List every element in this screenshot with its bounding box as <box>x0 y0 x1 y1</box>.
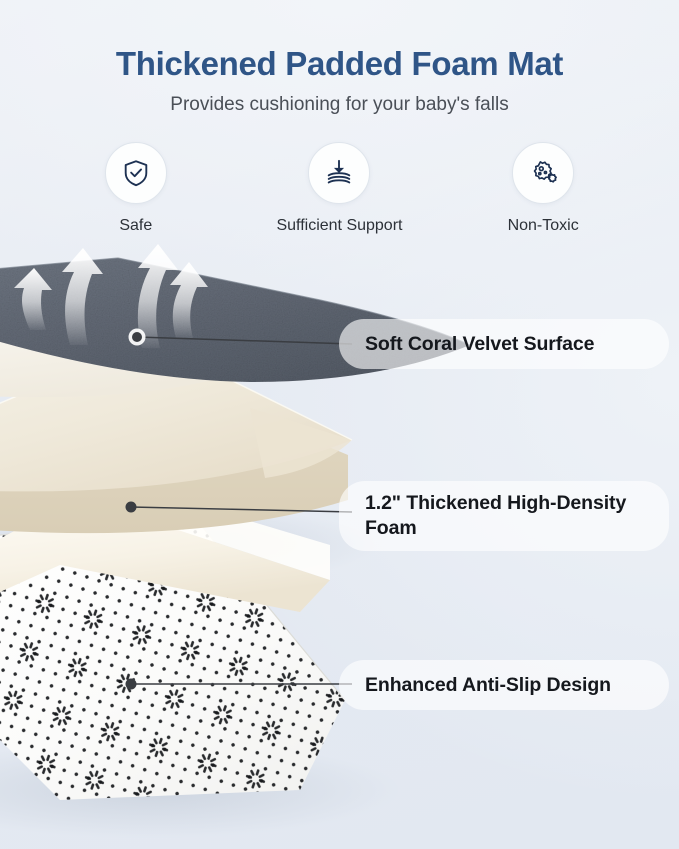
page-title: Thickened Padded Foam Mat <box>0 45 679 83</box>
feature-non-toxic: Non-Toxic <box>458 142 628 235</box>
feature-label-non-toxic: Non-Toxic <box>508 217 579 235</box>
feature-label-safe: Safe <box>119 217 152 235</box>
callout-label-0: Soft Coral Velvet Surface <box>365 332 594 357</box>
germ-cells-icon <box>528 158 558 188</box>
callout-label-1: 1.2" Thickened High-Density Foam <box>365 491 643 541</box>
page-subtitle: Provides cushioning for your baby's fall… <box>0 94 679 116</box>
header: Thickened Padded Foam Mat Provides cushi… <box>0 0 679 116</box>
callout-enhanced-anti-slip-design: Enhanced Anti-Slip Design <box>339 660 669 710</box>
feature-label-sufficient-support: Sufficient Support <box>276 217 402 235</box>
feature-safe: Safe <box>51 142 221 235</box>
callout-soft-coral-velvet-surface: Soft Coral Velvet Surface <box>339 319 669 369</box>
product-infographic: Thickened Padded Foam Mat Provides cushi… <box>0 0 679 849</box>
badge-circle-sufficient-support <box>308 142 370 204</box>
callout-thickened-high-density-foam: 1.2" Thickened High-Density Foam <box>339 481 669 551</box>
shield-check-icon <box>121 158 151 188</box>
product-illustration <box>0 0 679 849</box>
feature-badges: Safe Sufficient Support <box>0 142 679 235</box>
feature-sufficient-support: Sufficient Support <box>254 142 424 235</box>
downward-pressure-icon <box>324 158 354 188</box>
badge-circle-safe <box>105 142 167 204</box>
badge-circle-non-toxic <box>512 142 574 204</box>
callout-label-2: Enhanced Anti-Slip Design <box>365 673 611 698</box>
